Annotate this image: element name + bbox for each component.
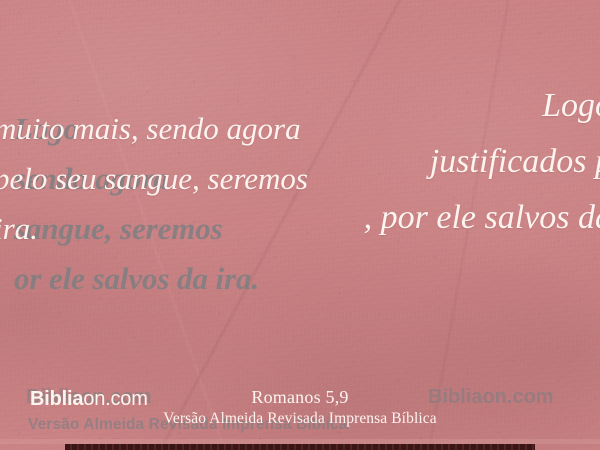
- bottom-dashed-strip: [65, 444, 535, 450]
- verse-reference: Romanos 5,9: [0, 386, 600, 408]
- verse-text-layer: muito mais, sendo agora pelo seu sangue,…: [0, 0, 600, 450]
- reference-block: Romanos 5,9 Versão Almeida Revisada Impr…: [0, 386, 600, 430]
- bible-version: Versão Almeida Revisada Imprensa Bíblica: [0, 408, 600, 430]
- verse-text-right-block: Logo justificados p , por ele salvos da: [172, 78, 600, 246]
- verse-image-card: Logo sendo agora sangue, seremos or ele …: [0, 0, 600, 450]
